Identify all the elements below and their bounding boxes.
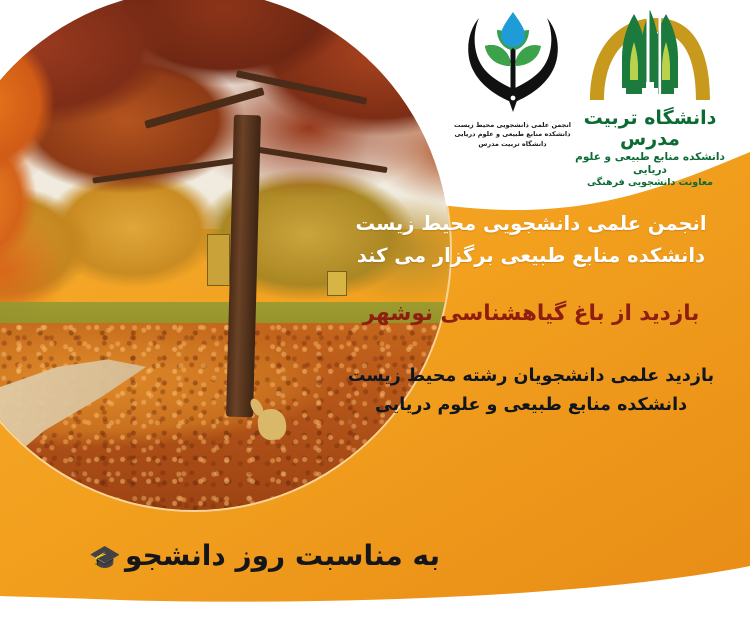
detail-line-2: دانشکده منابع طبیعی و علوم دریایی xyxy=(330,391,732,421)
university-logo-block: دانشگاه تربیت مدرس دانشکده منابع طبیعی و… xyxy=(570,8,730,189)
env-caption-line-3: دانشگاه تربیت مدرس xyxy=(450,140,575,149)
tarbiat-modares-arch-cypress-logo xyxy=(584,8,716,104)
graduation-cap-icon: 🎓 xyxy=(89,546,121,572)
env-association-logo-block: انجمن علمی دانشجویی محیط زیست دانشکده من… xyxy=(450,10,575,149)
organizer-line-1: انجمن علمی دانشجویی محیط زیست xyxy=(330,208,732,240)
event-title: بازدید از باغ گیاهشناسی نوشهر xyxy=(330,297,732,331)
university-department: معاونت دانشجویی فرهنگی xyxy=(570,177,730,189)
university-logo-caption: دانشگاه تربیت مدرس دانشکده منابع طبیعی و… xyxy=(570,108,730,189)
photo-park-sign xyxy=(207,234,231,285)
poster-canvas: انجمن علمی دانشجویی محیط زیست دانشکده من… xyxy=(0,0,750,625)
env-logo-caption: انجمن علمی دانشجویی محیط زیست دانشکده من… xyxy=(450,121,575,149)
occasion-text: به مناسبت روز دانشجو xyxy=(125,541,440,572)
university-faculty: دانشکده منابع طبیعی و علوم دریایی xyxy=(570,151,730,177)
organizer-line-2: دانشکده منابع طبیعی برگزار می کند xyxy=(330,240,732,272)
logo-row: انجمن علمی دانشجویی محیط زیست دانشکده من… xyxy=(440,6,740,166)
hands-plant-waterdrop-pen-logo xyxy=(463,10,563,114)
env-caption-line-2: دانشکده منابع طبیعی و علوم دریایی xyxy=(450,130,575,139)
occasion-slogan: به مناسبت روز دانشجو 🎓 xyxy=(40,541,440,572)
main-text-column: انجمن علمی دانشجویی محیط زیست دانشکده من… xyxy=(330,208,732,421)
university-title: دانشگاه تربیت مدرس xyxy=(570,108,730,150)
detail-line-1: بازدید علمی دانشجویان رشته محیط زیست xyxy=(330,362,732,392)
env-caption-line-1: انجمن علمی دانشجویی محیط زیست xyxy=(450,121,575,130)
